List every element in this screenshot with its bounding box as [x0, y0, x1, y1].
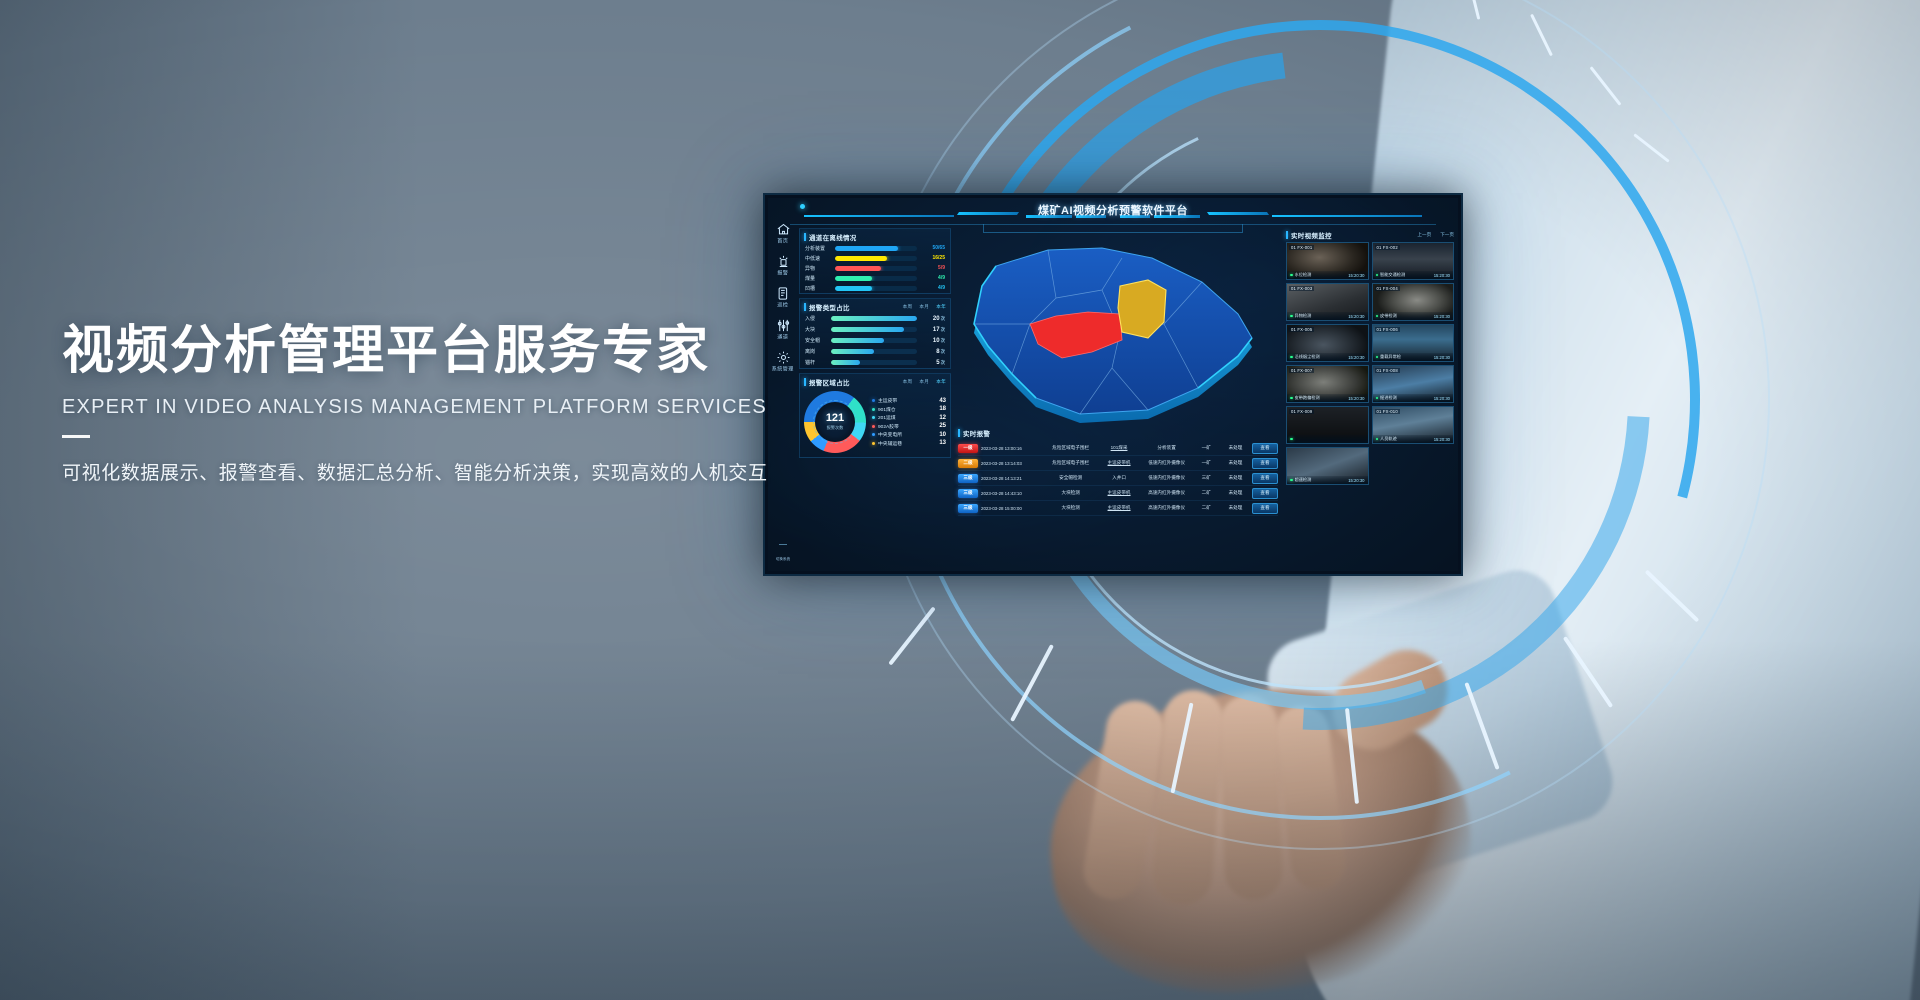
video-cell[interactable]: 01 FX-003 异物检测 15:20:30: [1286, 283, 1369, 321]
alarm-type-label: 入侵: [805, 315, 827, 322]
alarm-type: 大块检测: [1046, 505, 1095, 511]
channel-bar-list: 分析装置 50/65 中低速 16/25 异物 5/9 煤量 4/9 凹槽 4/…: [800, 243, 950, 293]
view-button[interactable]: 查看: [1252, 503, 1278, 514]
channel-value: 5/9: [921, 265, 945, 271]
dashboard-header: 煤矿AI视频分析预警软件平台: [768, 198, 1458, 224]
camera-id: 01 FX-005: [1289, 327, 1314, 332]
legend-row: 中央辅运巷 13: [872, 440, 946, 447]
alarm-type-value: 17次: [921, 327, 945, 333]
alarm-type-fill: [831, 338, 884, 343]
sidebar-item-inspection[interactable]: 巡检: [776, 286, 791, 307]
alarm-time: 2023-03-28 13:00:16: [981, 446, 1043, 451]
video-caption-bar: 智能交通检测 15:20:30: [1373, 271, 1454, 279]
sidebar-item-label: 报警: [777, 270, 788, 277]
legend-label: 902A胶带: [878, 423, 929, 430]
legend-dot-icon: [872, 433, 875, 436]
sidebar-footer-label: 切换系统: [776, 557, 790, 561]
channel-bar-fill: [835, 286, 872, 291]
channel-value: 16/25: [921, 255, 945, 261]
sidebar-item-home[interactable]: 首页: [776, 222, 791, 243]
channel-value: 4/9: [921, 275, 945, 281]
channel-bar-track: [835, 266, 917, 271]
marketing-block: 视频分析管理平台服务专家 EXPERT IN VIDEO ANALYSIS MA…: [62, 322, 822, 485]
online-status-icon: [1376, 274, 1379, 277]
channel-row: 凹槽 4/9: [800, 283, 950, 293]
camera-time: 15:20:30: [1348, 396, 1364, 401]
channel-bar-track: [835, 276, 917, 281]
alarm-type-track: [831, 338, 917, 343]
alarm-time: 2023-03-28 15:00:00: [981, 506, 1043, 511]
alarm-type: 大块检测: [1046, 490, 1095, 496]
camera-time: 15:20:30: [1434, 314, 1450, 319]
video-monitor-column: 实时视频监控 上一页 下一页 01 FX-001 水位检测 15:20:30 0…: [1282, 228, 1458, 567]
camera-time: 15:20:30: [1348, 478, 1364, 483]
alarm-type-fill: [831, 316, 917, 321]
online-status-icon: [1290, 274, 1293, 277]
legend-dot-icon: [872, 399, 875, 402]
alarm-device: 低速内红外摄像仪: [1143, 475, 1191, 481]
video-caption-bar: 重载异常检 15:20:30: [1373, 353, 1454, 361]
video-panel-header: 实时视频监控 上一页 下一页: [1282, 228, 1458, 242]
alarm-table: 一级 2023-03-28 13:00:16 危险区域电子围栏 101煤采 分析…: [954, 439, 1280, 516]
view-button[interactable]: 查看: [1252, 443, 1278, 454]
legend-dot-icon: [872, 408, 875, 411]
channel-value: 50/65: [921, 245, 945, 251]
camera-name: 智能交通检测: [1380, 272, 1432, 278]
header-line: [957, 212, 1019, 215]
video-caption-bar: 异物检测 15:20:30: [1287, 312, 1368, 320]
alarm-type-fill: [831, 327, 904, 332]
table-row: 二级 2023-03-28 13:14:03 危险区域电子围栏 主运皮带机 低速…: [958, 456, 1278, 471]
camera-name: 异物检测: [1295, 313, 1347, 319]
video-cell[interactable]: 01 FX-001 水位检测 15:20:30: [1286, 242, 1369, 280]
view-button[interactable]: 查看: [1252, 473, 1278, 484]
alarm-type-row: 离岗 8次: [800, 346, 950, 357]
legend-row: 主运皮带 43: [872, 397, 946, 404]
center-column: 实时报警 一级 2023-03-28 13:00:16 危险区域电子围栏 101…: [954, 228, 1280, 567]
alarm-type: 危险区域电子围栏: [1046, 445, 1095, 451]
period-tab-本年[interactable]: 本年: [936, 379, 946, 385]
map-svg: [952, 228, 1282, 428]
online-status-icon: [1376, 397, 1379, 400]
channel-bar-track: [835, 256, 917, 261]
camera-name: 皮带检测: [1380, 313, 1432, 319]
alarm-area: 101煤采: [1098, 445, 1139, 451]
legend-value: 43: [932, 398, 946, 404]
legend-label: 中央辅运巷: [878, 440, 929, 447]
sidebar-divider: [779, 544, 787, 545]
legend-row: 中央变电所 10: [872, 431, 946, 438]
video-cell[interactable]: 01 FX-004 皮带检测 15:20:30: [1372, 283, 1455, 321]
dashboard-screen: 煤矿AI视频分析预警软件平台 首页 报警 巡检: [768, 198, 1458, 571]
channel-bar-fill: [835, 276, 872, 281]
alarm-time: 2023-03-28 14:43:10: [981, 491, 1043, 496]
period-tabs: 本周本月本年: [903, 304, 946, 310]
sidebar-footer[interactable]: 切换系统: [768, 547, 798, 565]
legend-dot-icon: [872, 442, 875, 445]
panel-header: 通道在离线情况: [800, 229, 950, 243]
online-status-icon: [1376, 356, 1379, 359]
alarm-type-track: [831, 360, 917, 365]
legend-label: 901煤仓: [878, 406, 929, 413]
legend-row: 901煤仓 18: [872, 406, 946, 413]
camera-name: 掘进检测: [1380, 395, 1432, 401]
status-badge: 一级: [958, 444, 978, 453]
camera-name: 水位检测: [1295, 272, 1347, 278]
alarm-status: 未处理: [1222, 460, 1249, 466]
camera-id: 01 FX-010: [1375, 409, 1400, 414]
alarm-mine: 一矿: [1193, 445, 1218, 451]
alarm-status: 未处理: [1222, 445, 1249, 451]
camera-id: 01 FX-009: [1289, 409, 1314, 414]
channel-label: 异物: [805, 265, 831, 272]
table-row: 三级 2023-03-28 14:43:10 大块检测 主运皮带机 高速内红外摄…: [958, 486, 1278, 501]
camera-id: 01 FX-007: [1289, 368, 1314, 373]
alarm-type-fill: [831, 360, 860, 365]
channel-status-panel: 通道在离线情况 分析装置 50/65 中低速 16/25 异物 5/9 煤量 4…: [799, 228, 951, 294]
mine-map[interactable]: [954, 228, 1280, 428]
alarm-type: 安全帽检测: [1046, 475, 1095, 481]
legend-row: 902A胶带 25: [872, 423, 946, 430]
alarm-mine: 一矿: [1193, 460, 1218, 466]
alarm-type-row: 入侵 20次: [800, 313, 950, 324]
video-cell[interactable]: 01 FX-009: [1286, 406, 1369, 444]
online-status-icon: [1376, 315, 1379, 318]
video-caption-bar: 皮带检测 15:20:30: [1373, 312, 1454, 320]
period-tab-本周[interactable]: 本周: [903, 304, 913, 310]
status-badge: 二级: [958, 459, 978, 468]
legend-value: 25: [932, 423, 946, 429]
video-caption-bar: 水位检测 15:20:30: [1287, 271, 1368, 279]
alarm-mine: 二矿: [1193, 490, 1218, 496]
legend-value: 10: [932, 432, 946, 438]
channel-bar-fill: [835, 266, 881, 271]
alarm-device: 低速内红外摄像仪: [1143, 460, 1191, 466]
status-badge: 三级: [958, 474, 978, 483]
alarm-type-track: [831, 349, 917, 354]
online-status-icon: [1290, 356, 1293, 359]
alarm-type-row: 大块 17次: [800, 324, 950, 335]
channel-bar-fill: [835, 256, 887, 261]
camera-name: 超速检测: [1295, 477, 1347, 483]
channel-bar-track: [835, 286, 917, 291]
channel-row: 异物 5/9: [800, 263, 950, 273]
donut-chart-block: 121 报警次数 主运皮带 43 901煤仓 18 201运煤 12 902A胶…: [800, 388, 950, 457]
prev-page-button[interactable]: 上一页: [1417, 232, 1431, 238]
camera-time: 15:20:30: [1348, 273, 1364, 278]
view-button[interactable]: 查看: [1252, 458, 1278, 469]
alarm-time: 2023-03-28 13:14:03: [981, 461, 1043, 466]
alarm-time: 2023-03-28 14:13:21: [981, 476, 1043, 481]
video-cell[interactable]: 01 FX-008 掘进检测 15:20:30: [1372, 365, 1455, 403]
alarm-area: 主运皮带机: [1098, 505, 1139, 511]
alarm-area: 入井口: [1098, 475, 1139, 481]
legend-label: 中央变电所: [878, 431, 929, 438]
panel-header: 实时报警: [954, 425, 1280, 439]
video-caption-bar: [1287, 435, 1368, 443]
channel-row: 煤量 4/9: [800, 273, 950, 283]
sidebar-item-label: 巡检: [777, 302, 788, 309]
alarm-status: 未处理: [1222, 490, 1249, 496]
alarm-area: 主运皮带机: [1098, 490, 1139, 496]
legend-value: 12: [932, 415, 946, 421]
alarm-type-value: 20次: [921, 316, 945, 322]
camera-time: 15:20:30: [1348, 314, 1364, 319]
panel-title: 实时视频监控: [1291, 230, 1332, 240]
legend-dot-icon: [872, 416, 875, 419]
online-status-icon: [1376, 438, 1379, 441]
video-pagination: 上一页 下一页: [1417, 232, 1454, 238]
alarm-type-track: [831, 327, 917, 332]
channel-label: 煤量: [805, 275, 831, 282]
alarm-status: 未处理: [1222, 505, 1249, 511]
panel-header: 报警类型占比 本周本月本年: [800, 299, 950, 313]
panel-header: 报警区域占比 本周本月本年: [800, 374, 950, 388]
alarm-device: 高速内红外摄像仪: [1143, 505, 1191, 511]
sidebar-item-alarm[interactable]: 报警: [776, 254, 791, 275]
online-status-icon: [1290, 315, 1293, 318]
period-tab-本周[interactable]: 本周: [903, 379, 913, 385]
alarm-type-row: 安全帽 10次: [800, 335, 950, 346]
video-caption-bar: 人员轨迹 15:20:30: [1373, 435, 1454, 443]
alarm-type-fill: [831, 349, 874, 354]
camera-id: 01 FX-002: [1375, 245, 1400, 250]
alarm-type-row: 锚杆 5次: [800, 357, 950, 368]
camera-time: 15:20:30: [1434, 273, 1450, 278]
legend-label: 主运皮带: [878, 397, 929, 404]
channel-bar-fill: [835, 246, 898, 251]
legend-dot-icon: [872, 425, 875, 428]
camera-time: 15:20:30: [1434, 355, 1450, 360]
panel-title: 通道在离线情况: [809, 232, 857, 242]
table-row: 三级 2023-03-28 14:13:21 安全帽检测 入井口 低速内红外摄像…: [958, 471, 1278, 486]
channel-bar-track: [835, 246, 917, 251]
alarm-type-value: 10次: [921, 338, 945, 344]
sidebar-item-label: 首页: [777, 238, 788, 245]
panel-title: 报警类型占比: [809, 302, 850, 312]
camera-id: 01 FX-003: [1289, 286, 1314, 291]
online-status-icon: [1290, 438, 1293, 441]
video-cell[interactable]: 01 FX-007 皮带跑偏检测 15:20:30: [1286, 365, 1369, 403]
alarm-type-track: [831, 316, 917, 321]
period-tab-本月[interactable]: 本月: [919, 304, 929, 310]
legend-row: 201运煤 12: [872, 414, 946, 421]
alarm-type-value: 5次: [921, 360, 945, 366]
header-line: [804, 215, 954, 217]
header-line: [1272, 215, 1422, 217]
alarm-device: 高速内红外摄像仪: [1143, 490, 1191, 496]
camera-time: 15:20:30: [1434, 396, 1450, 401]
table-row: 三级 2023-03-28 15:00:00 大块检测 主运皮带机 高速内红外摄…: [958, 501, 1278, 516]
alarm-status: 未处理: [1222, 475, 1249, 481]
alarm-area: 主运皮带机: [1098, 460, 1139, 466]
video-caption-bar: 超速检测 15:20:30: [1287, 476, 1368, 484]
camera-name: 重载异常检: [1380, 354, 1432, 360]
camera-name: 皮带跑偏检测: [1295, 395, 1347, 401]
next-page-button[interactable]: 下一页: [1440, 232, 1454, 238]
channel-label: 凹槽: [805, 285, 831, 292]
divider: [62, 435, 90, 438]
camera-id: 01 FX-008: [1375, 368, 1400, 373]
legend-value: 13: [932, 440, 946, 446]
realtime-alarm-panel: 实时报警 一级 2023-03-28 13:00:16 危险区域电子围栏 101…: [954, 425, 1280, 567]
camera-name: 人员轨迹: [1380, 436, 1432, 442]
alarm-type-value: 8次: [921, 349, 945, 355]
description: 可视化数据展示、报警查看、数据汇总分析、智能分析决策，实现高效的人机交互: [62, 458, 822, 485]
legend-value: 18: [932, 406, 946, 412]
subheadline: EXPERT IN VIDEO ANALYSIS MANAGEMENT PLAT…: [62, 396, 822, 419]
view-button[interactable]: 查看: [1252, 488, 1278, 499]
alarm-mine: 三矿: [1193, 475, 1218, 481]
video-cell[interactable]: 01 FX-006 重载异常检 15:20:30: [1372, 324, 1455, 362]
inspection-icon: [776, 286, 791, 301]
alarm-device: 分析装置: [1143, 445, 1191, 451]
period-tabs: 本周本月本年: [903, 379, 946, 385]
alarm-icon: [776, 254, 791, 269]
channel-label: 分析装置: [805, 245, 831, 252]
channel-row: 中低速 16/25: [800, 253, 950, 263]
alarm-type: 危险区域电子围栏: [1046, 460, 1095, 466]
channel-value: 4/9: [921, 285, 945, 291]
donut-legend: 主运皮带 43 901煤仓 18 201运煤 12 902A胶带 25 中央变电…: [870, 397, 946, 447]
period-tab-本月[interactable]: 本月: [919, 379, 929, 385]
panel-header: 实时视频监控: [1286, 230, 1417, 240]
donut-center-caption: 报警次数: [827, 425, 844, 431]
page-title: 煤矿AI视频分析预警软件平台: [1038, 202, 1188, 218]
dashboard-monitor: 煤矿AI视频分析预警软件平台 首页 报警 巡检: [763, 193, 1463, 576]
period-tab-本年[interactable]: 本年: [936, 304, 946, 310]
donut-center-value: 121: [826, 413, 844, 424]
video-caption-bar: 皮带跑偏检测 15:20:30: [1287, 394, 1368, 402]
alarm-mine: 二矿: [1193, 505, 1218, 511]
table-row: 一级 2023-03-28 13:00:16 危险区域电子围栏 101煤采 分析…: [958, 441, 1278, 456]
channel-row: 分析装置 50/65: [800, 243, 950, 253]
video-cell[interactable]: 01 FX-010 人员轨迹 15:20:30: [1372, 406, 1455, 444]
camera-time: 15:20:30: [1434, 437, 1450, 442]
video-caption-bar: 沿线烟尘检测 15:20:30: [1287, 353, 1368, 361]
headline: 视频分析管理平台服务专家: [62, 322, 822, 382]
home-icon: [776, 222, 791, 237]
video-cell[interactable]: 01 FX-002 智能交通检测 15:20:30: [1372, 242, 1455, 280]
video-cell[interactable]: 超速检测 15:20:30: [1286, 447, 1369, 485]
status-badge: 三级: [958, 489, 978, 498]
video-caption-bar: 掘进检测 15:20:30: [1373, 394, 1454, 402]
camera-id: 01 FX-006: [1375, 327, 1400, 332]
camera-id: 01 FX-001: [1289, 245, 1314, 250]
video-grid: 01 FX-001 水位检测 15:20:30 01 FX-002 智能交通检测…: [1282, 242, 1458, 485]
alarm-type-list: 入侵 20次 大块 17次 安全帽 10次 离岗 8次 锚杆 5次: [800, 313, 950, 368]
header-dot-icon: [800, 204, 805, 209]
online-status-icon: [1290, 479, 1293, 482]
video-cell[interactable]: 01 FX-005 沿线烟尘检测 15:20:30: [1286, 324, 1369, 362]
online-status-icon: [1290, 397, 1293, 400]
panel-title: 实时报警: [963, 428, 990, 438]
header-line: [1207, 212, 1269, 215]
channel-label: 中低速: [805, 255, 831, 262]
camera-name: 沿线烟尘检测: [1295, 354, 1347, 360]
camera-time: 15:20:30: [1348, 355, 1364, 360]
camera-id: 01 FX-004: [1375, 286, 1400, 291]
status-badge: 三级: [958, 504, 978, 513]
legend-label: 201运煤: [878, 414, 929, 421]
